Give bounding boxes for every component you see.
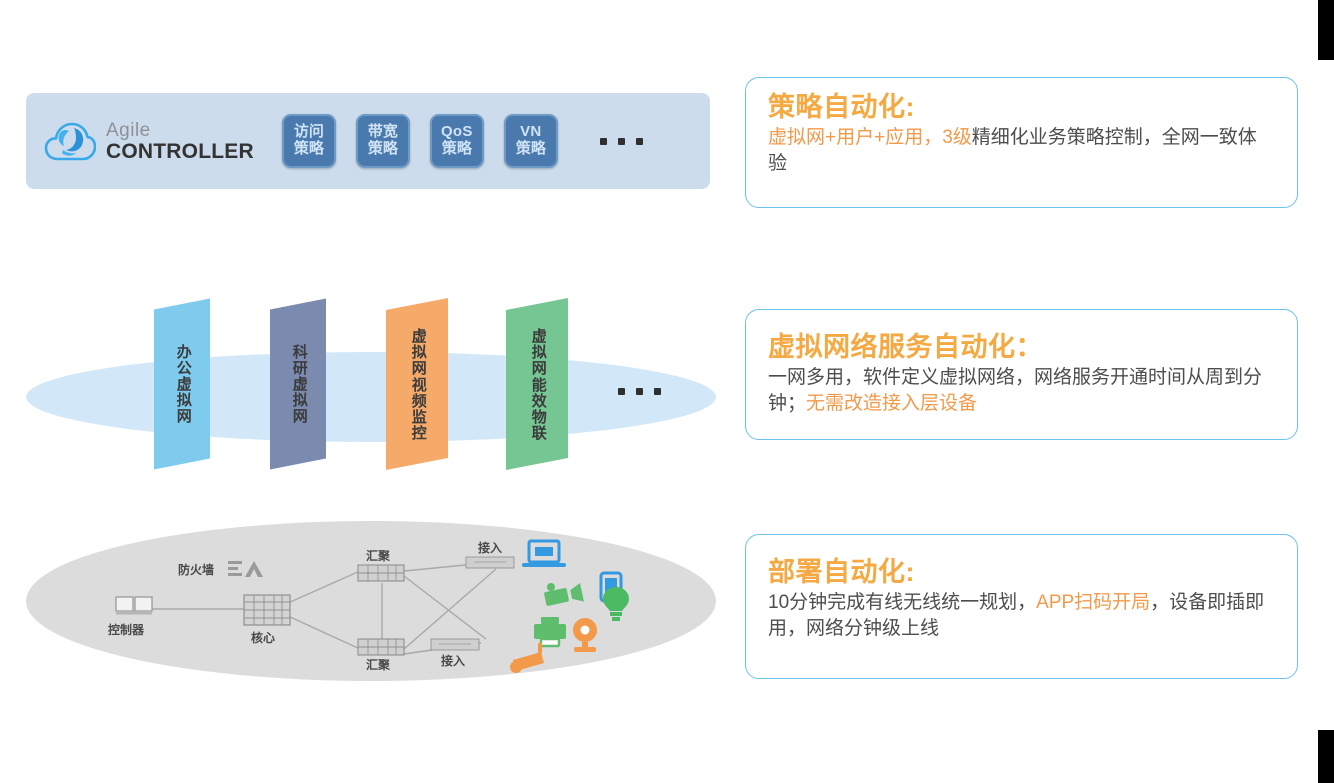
chip-line2: 策略 <box>368 141 398 158</box>
ellipsis-dot <box>636 138 643 145</box>
security-camera-icon <box>510 643 544 673</box>
topology-label-aggregation-top: 汇聚 <box>366 547 390 564</box>
controller-icon <box>116 597 152 615</box>
firewall-icon <box>228 561 263 577</box>
printer-icon <box>534 617 566 646</box>
topology-label-firewall: 防火墙 <box>178 561 214 578</box>
panel-deployment-automation: 部署自动化: 10分钟完成有线无线统一规划，APP扫码开局，设备即插即用，网络分… <box>745 534 1298 679</box>
right-edge-black-bar-bottom <box>1318 730 1334 783</box>
slab-label: 办公虚拟网 <box>174 344 191 424</box>
logo-controller-text: CONTROLLER <box>106 141 254 162</box>
ellipsis-dot <box>636 388 643 395</box>
aggregation-switch-top-icon <box>358 565 404 581</box>
topology-label-aggregation-bottom: 汇聚 <box>366 656 390 673</box>
slab-label: 虚拟网 能效物联 <box>529 328 546 441</box>
network-topology-stage: 控制器 防火墙 核心 汇聚 汇聚 接入 接入 <box>26 521 716 681</box>
cloud-swirl-icon <box>44 119 96 163</box>
laptop-icon <box>522 541 566 567</box>
chip-line1: VN <box>520 124 541 141</box>
panel-policy-automation: 策略自动化: 虚拟网+用户+应用，3级精细化业务策略控制，全网一致体验 <box>745 77 1298 208</box>
ellipsis-dot <box>654 388 661 395</box>
aggregation-switch-bottom-icon <box>358 639 404 655</box>
panel-body-highlight: 虚拟网+用户+应用，3级 <box>768 127 972 148</box>
panel-body: 虚拟网+用户+应用，3级精细化业务策略控制，全网一致体验 <box>768 125 1275 176</box>
virtual-network-stage: 办公虚拟网 科研虚拟网 虚拟网 视频监控 虚拟网 能效物联 <box>26 292 716 497</box>
virtual-network-slab-energy-iot[interactable]: 虚拟网 能效物联 <box>506 298 568 470</box>
topology-label-controller: 控制器 <box>108 621 144 638</box>
policy-chip-qos[interactable]: QoS 策略 <box>430 114 484 168</box>
chip-line2: 策略 <box>516 141 546 158</box>
panel-virtual-network-service-automation: 虚拟网络服务自动化： 一网多用，软件定义虚拟网络，网络服务开通时间从周到分钟；无… <box>745 309 1298 440</box>
slide-root: Agile CONTROLLER 访问 策略 带宽 策略 QoS 策略 VN 策… <box>0 0 1334 783</box>
policy-chip-access[interactable]: 访问 策略 <box>282 114 336 168</box>
logo-agile-text: Agile <box>106 121 254 140</box>
chip-line1: 带宽 <box>368 124 398 141</box>
webcam-icon <box>573 618 597 652</box>
ellipsis-dot <box>618 138 625 145</box>
panel-body-highlight: APP扫码开局 <box>1036 592 1150 613</box>
slab-label-line: 能效物联 <box>529 377 546 441</box>
panel-body-highlight: 无需改造接入层设备 <box>806 393 977 414</box>
chip-line1: QoS <box>441 124 473 141</box>
slab-label: 虚拟网 视频监控 <box>409 328 426 441</box>
virtual-network-slab-office[interactable]: 办公虚拟网 <box>154 299 210 470</box>
agile-controller-bar: Agile CONTROLLER 访问 策略 带宽 策略 QoS 策略 VN 策… <box>26 93 710 189</box>
panel-body-plain: 10分钟完成有线无线统一规划， <box>768 592 1036 613</box>
chip-line2: 策略 <box>294 141 324 158</box>
policy-chip-vn[interactable]: VN 策略 <box>504 114 558 168</box>
slab-label-line: 视频监控 <box>409 377 426 441</box>
more-policies-ellipsis-icon <box>600 138 643 145</box>
panel-title: 部署自动化: <box>768 557 1275 588</box>
panel-title: 策略自动化: <box>768 92 1275 123</box>
virtual-network-slab-research[interactable]: 科研虚拟网 <box>270 299 326 470</box>
slab-label-line: 虚拟网 <box>409 328 426 376</box>
video-camera-icon <box>544 583 584 606</box>
right-edge-black-bar-top <box>1318 0 1334 60</box>
chip-line2: 策略 <box>442 141 472 158</box>
topology-label-core: 核心 <box>251 629 275 646</box>
slab-label: 科研虚拟网 <box>290 344 307 424</box>
panel-body: 10分钟完成有线无线统一规划，APP扫码开局，设备即插即用，网络分钟级上线 <box>768 590 1275 641</box>
ellipsis-dot <box>618 388 625 395</box>
virtual-network-slab-video-surveillance[interactable]: 虚拟网 视频监控 <box>386 298 448 470</box>
access-switch-bottom-icon <box>431 639 479 650</box>
ellipsis-dot <box>600 138 607 145</box>
agile-controller-logo: Agile CONTROLLER <box>44 119 254 163</box>
slab-label-line: 虚拟网 <box>529 328 546 376</box>
slab-label-line: 科研虚拟网 <box>290 344 307 424</box>
virtual-network-ellipse <box>26 352 716 442</box>
slab-label-line: 办公虚拟网 <box>174 344 191 424</box>
topology-label-access-top: 接入 <box>478 539 502 556</box>
policy-chip-group: 访问 策略 带宽 策略 QoS 策略 VN 策略 <box>282 114 643 168</box>
panel-body: 一网多用，软件定义虚拟网络，网络服务开通时间从周到分钟；无需改造接入层设备 <box>768 365 1275 416</box>
chip-line1: 访问 <box>294 124 324 141</box>
more-virtual-networks-ellipsis-icon <box>618 388 661 395</box>
topology-label-access-bottom: 接入 <box>441 652 465 669</box>
core-switch-icon <box>244 595 290 625</box>
policy-chip-bandwidth[interactable]: 带宽 策略 <box>356 114 410 168</box>
agile-controller-wordmark: Agile CONTROLLER <box>106 121 254 162</box>
light-bulb-icon <box>603 587 629 621</box>
panel-title: 虚拟网络服务自动化： <box>768 332 1275 363</box>
access-switch-top-icon <box>466 557 514 568</box>
